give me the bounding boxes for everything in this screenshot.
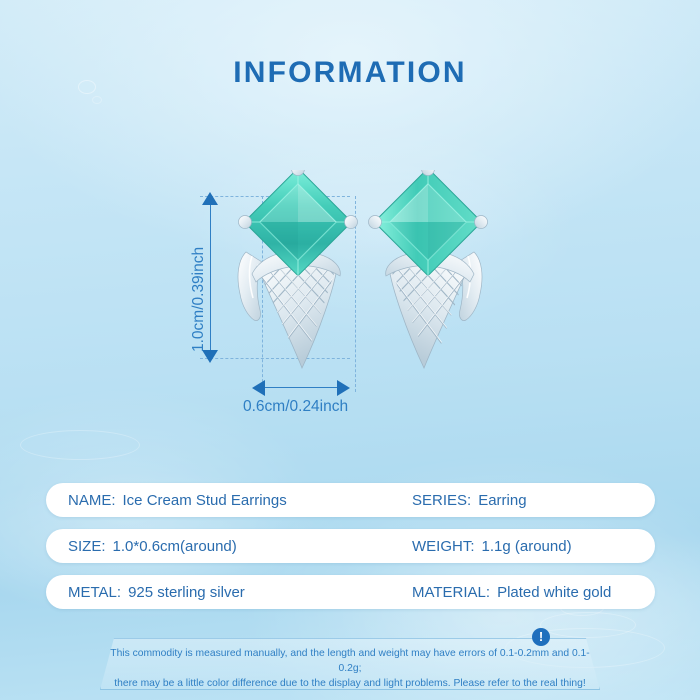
spec-row-size: SIZE: 1.0*0.6cm(around) WEIGHT: 1.1g (ar… — [46, 529, 655, 563]
disclaimer-line-1: This commodity is measured manually, and… — [100, 646, 600, 676]
product-dimension-stage: 1.0cm/0.39inch 0.6cm/0.24inch — [0, 170, 700, 420]
spec-cell-name: NAME: Ice Cream Stud Earrings — [68, 492, 287, 509]
spec-key-metal: METAL: — [68, 584, 121, 601]
spec-value-name: Ice Cream Stud Earrings — [123, 492, 287, 509]
bubble-2 — [92, 96, 102, 104]
spec-key-material: MATERIAL: — [412, 584, 490, 601]
spec-value-material: Plated white gold — [497, 584, 611, 601]
spec-cell-series: SERIES: Earring — [412, 492, 527, 509]
spec-value-size: 1.0*0.6cm(around) — [113, 538, 237, 555]
spec-row-metal: METAL: 925 sterling silver MATERIAL: Pla… — [46, 575, 655, 609]
exclamation-icon: ! — [532, 628, 550, 646]
spec-key-name: NAME: — [68, 492, 116, 509]
spec-cell-metal: METAL: 925 sterling silver — [68, 584, 245, 601]
spec-row-name: NAME: Ice Cream Stud Earrings SERIES: Ea… — [46, 483, 655, 517]
earring-right — [366, 170, 488, 368]
spec-key-series: SERIES: — [412, 492, 471, 509]
disclaimer-text: This commodity is measured manually, and… — [100, 646, 600, 691]
spec-value-weight: 1.1g (around) — [482, 538, 572, 555]
disclaimer-line-2: there may be a little color difference d… — [100, 676, 600, 691]
spec-key-weight: WEIGHT: — [412, 538, 475, 555]
product-information-page: INFORMATION 1.0cm/0.39inch 0.6cm/0.24inc… — [0, 0, 700, 700]
spec-cell-weight: WEIGHT: 1.1g (around) — [412, 538, 572, 555]
spec-value-metal: 925 sterling silver — [128, 584, 245, 601]
spec-list: NAME: Ice Cream Stud Earrings SERIES: Ea… — [46, 483, 655, 621]
spec-cell-material: MATERIAL: Plated white gold — [412, 584, 611, 601]
spec-key-size: SIZE: — [68, 538, 106, 555]
earring-left — [238, 170, 360, 368]
spec-value-series: Earring — [478, 492, 526, 509]
ripple-ring-4 — [20, 430, 140, 460]
earring-pair-image — [0, 170, 700, 420]
page-title: INFORMATION — [0, 56, 700, 90]
spec-cell-size: SIZE: 1.0*0.6cm(around) — [68, 538, 237, 555]
